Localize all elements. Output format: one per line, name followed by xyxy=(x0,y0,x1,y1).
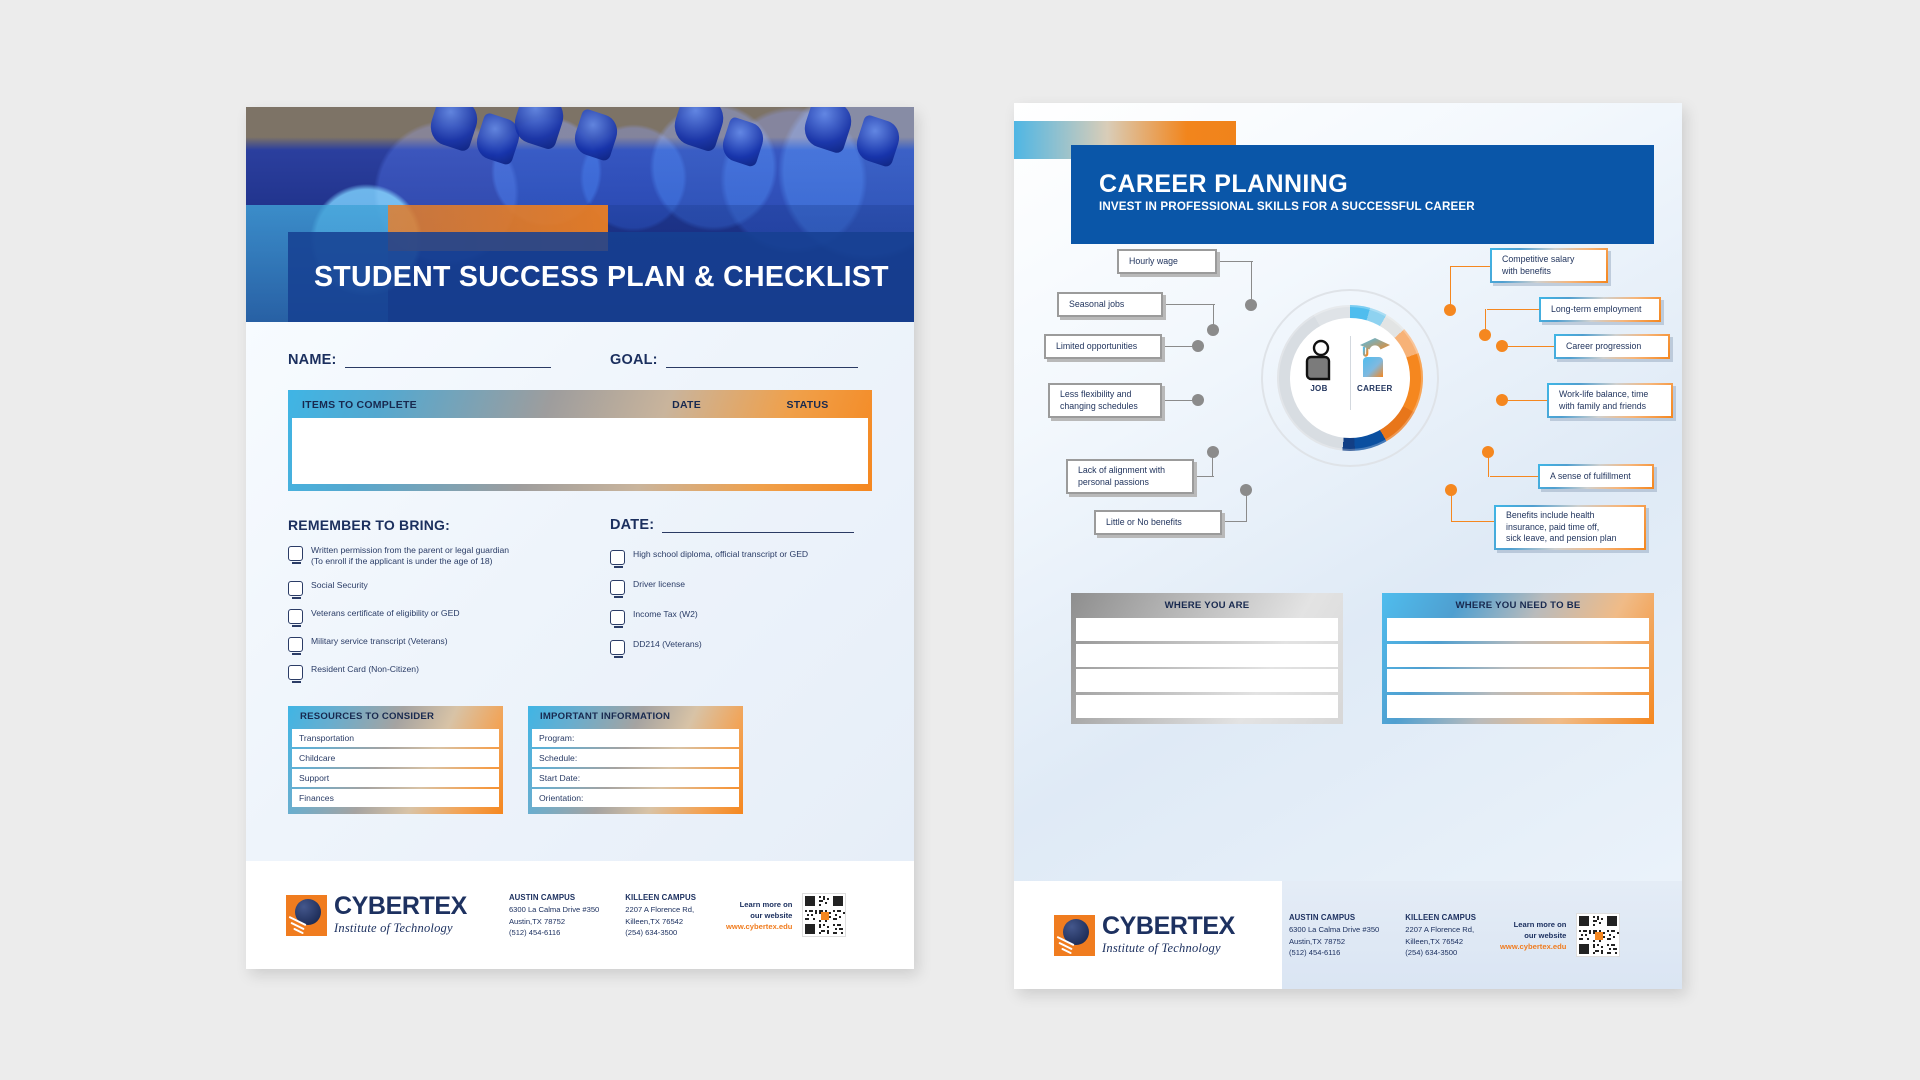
list-item[interactable]: Income Tax (W2) xyxy=(610,609,870,625)
learn-line-2: our website xyxy=(726,910,792,921)
date-cell[interactable] xyxy=(626,462,747,484)
items-col-header: ITEMS TO COMPLETE xyxy=(292,393,626,418)
name-goal-row: NAME: GOAL: xyxy=(288,322,872,368)
right-page-footer: CYBERTEX Institute of Technology AUSTIN … xyxy=(1014,881,1682,989)
learn-line-2: our website xyxy=(1500,930,1566,941)
row-value[interactable] xyxy=(371,749,499,767)
checkbox[interactable] xyxy=(288,581,303,596)
killeen-address-2: Killeen,TX 76542 xyxy=(1405,936,1476,947)
connector-dot xyxy=(1192,340,1204,352)
list-item[interactable]: Written permission from the parent or le… xyxy=(288,545,570,568)
resources-title: RESOURCES TO CONSIDER xyxy=(292,706,499,727)
remember-to-bring-section: REMEMBER TO BRING: Written permission fr… xyxy=(288,517,872,692)
killeen-campus-title: KILLEEN CAMPUS xyxy=(1405,912,1476,924)
student-success-plan-page: STUDENT SUCCESS PLAN & CHECKLIST NAME: G… xyxy=(246,107,914,969)
row-label: Finances xyxy=(292,789,371,807)
resources-card: RESOURCES TO CONSIDER Transportation Chi… xyxy=(288,706,503,814)
list-item[interactable]: Veterans certificate of eligibility or G… xyxy=(288,608,570,624)
list-item-label: DD214 (Veterans) xyxy=(633,639,702,650)
row-value[interactable] xyxy=(611,749,739,767)
node-label: Long-term employment xyxy=(1551,304,1641,315)
remember-right-column: DATE: High school diploma, official tran… xyxy=(610,517,870,692)
where-you-are-shell: WHERE YOU ARE xyxy=(1071,593,1343,724)
checkbox[interactable] xyxy=(610,550,625,565)
learn-more-text: Learn more on our website www.cybertex.e… xyxy=(1500,919,1566,952)
job-node-lack-of-alignment[interactable]: Lack of alignment with personal passions xyxy=(1066,459,1194,494)
remember-left-column: REMEMBER TO BRING: Written permission fr… xyxy=(288,517,570,692)
row-value[interactable] xyxy=(611,729,739,747)
node-label: Career progression xyxy=(1566,341,1641,352)
job-label: JOB xyxy=(1310,384,1327,393)
killeen-address-1: 2207 A Florence Rd, xyxy=(1405,924,1476,935)
row-label: Support xyxy=(292,769,371,787)
checkbox[interactable] xyxy=(610,610,625,625)
qr-code-icon xyxy=(1577,914,1619,956)
node-label: Benefits include health insurance, paid … xyxy=(1506,510,1617,544)
qr-code-icon xyxy=(803,894,845,936)
connector-dot xyxy=(1207,324,1219,336)
items-cell[interactable] xyxy=(292,418,626,440)
killeen-address-1: 2207 A Florence Rd, xyxy=(625,904,696,915)
where-you-need-title: WHERE YOU NEED TO BE xyxy=(1387,593,1649,618)
austin-phone: (512) 454-6116 xyxy=(509,927,599,938)
goal-field-group: GOAL: xyxy=(610,352,870,368)
resources-shell: RESOURCES TO CONSIDER Transportation Chi… xyxy=(288,706,503,814)
left-page-body: NAME: GOAL: ITEMS TO COMPLETE DATE STATU xyxy=(246,322,914,861)
table-row xyxy=(292,440,868,462)
connector-dot xyxy=(1207,446,1219,458)
node-label: Work-life balance, time with family and … xyxy=(1559,389,1648,412)
brand-tagline: Institute of Technology xyxy=(1102,941,1235,956)
checkbox[interactable] xyxy=(288,546,303,561)
qr-code[interactable] xyxy=(1576,913,1620,957)
remember-right-list: High school diploma, official transcript… xyxy=(610,549,870,655)
important-info-title: IMPORTANT INFORMATION xyxy=(532,706,739,727)
status-col-header: STATUS xyxy=(747,393,868,418)
items-cell[interactable] xyxy=(292,462,626,484)
list-item-label: Military service transcript (Veterans) xyxy=(311,636,448,647)
canvas: STUDENT SUCCESS PLAN & CHECKLIST NAME: G… xyxy=(0,0,1920,1080)
node-label: Competitive salary with benefits xyxy=(1502,254,1574,277)
career-planning-body: CAREER PLANNING INVEST IN PROFESSIONAL S… xyxy=(1014,103,1682,881)
logo-wordmark: CYBERTEX Institute of Technology xyxy=(1102,914,1235,956)
date-field-group: DATE: xyxy=(610,517,870,533)
career-planning-header: CAREER PLANNING INVEST IN PROFESSIONAL S… xyxy=(1071,145,1654,244)
job-icon-group: JOB xyxy=(1304,339,1334,393)
table-row: Schedule: xyxy=(532,749,739,767)
items-table-header-row: ITEMS TO COMPLETE DATE STATUS xyxy=(292,393,868,418)
website-url[interactable]: www.cybertex.edu xyxy=(1500,941,1566,952)
hero-banner: STUDENT SUCCESS PLAN & CHECKLIST xyxy=(246,107,914,322)
job-node-less-flexibility[interactable]: Less flexibility and changing schedules xyxy=(1048,383,1162,418)
list-item[interactable]: Social Security xyxy=(288,580,570,596)
connector-dot xyxy=(1482,446,1494,458)
career-node-sense-of-fulfillment[interactable]: A sense of fulfillment xyxy=(1538,464,1654,489)
killeen-phone: (254) 634-3500 xyxy=(625,927,696,938)
where-you-need-rows xyxy=(1387,618,1649,718)
where-you-are-need-section: WHERE YOU ARE WHERE YOU NEED TO BE xyxy=(1071,593,1654,724)
cybertex-logo-icon xyxy=(1054,915,1095,956)
row-value[interactable] xyxy=(371,769,499,787)
brand-name: CYBERTEX xyxy=(334,894,467,919)
date-cell[interactable] xyxy=(626,418,747,440)
row-label: Transportation xyxy=(292,729,371,747)
status-cell[interactable] xyxy=(747,462,868,484)
graduate-person-icon xyxy=(1358,336,1392,381)
date-input[interactable] xyxy=(662,518,854,533)
hero-title-band: STUDENT SUCCESS PLAN & CHECKLIST xyxy=(288,232,914,322)
career-label: CAREER xyxy=(1357,384,1393,393)
important-info-shell: IMPORTANT INFORMATION Program: Schedule: xyxy=(528,706,743,814)
node-label: Hourly wage xyxy=(1129,256,1178,267)
job-node-hourly-wage[interactable]: Hourly wage xyxy=(1117,249,1217,274)
austin-campus-title: AUSTIN CAMPUS xyxy=(1289,912,1379,924)
name-field-group: NAME: xyxy=(288,352,570,368)
connector-dot xyxy=(1240,484,1252,496)
where-you-are-row[interactable] xyxy=(1076,695,1338,718)
row-value[interactable] xyxy=(371,729,499,747)
connector-dot xyxy=(1192,394,1204,406)
where-you-need-card: WHERE YOU NEED TO BE xyxy=(1382,593,1654,724)
name-input[interactable] xyxy=(345,353,551,368)
connector-dot xyxy=(1444,304,1456,316)
connector-dot xyxy=(1245,299,1257,311)
date-label: DATE: xyxy=(610,517,654,533)
career-node-benefits-detail[interactable]: Benefits include health insurance, paid … xyxy=(1494,505,1646,550)
career-node-career-progression[interactable]: Career progression xyxy=(1554,334,1670,359)
career-planning-title: CAREER PLANNING xyxy=(1099,171,1654,197)
where-you-are-card: WHERE YOU ARE xyxy=(1071,593,1343,724)
name-label: NAME: xyxy=(288,352,337,368)
items-cell[interactable] xyxy=(292,440,626,462)
list-item[interactable]: Resident Card (Non-Citizen) xyxy=(288,664,570,680)
table-row: Start Date: xyxy=(532,769,739,787)
list-item-label: Veterans certificate of eligibility or G… xyxy=(311,608,460,619)
row-value[interactable] xyxy=(611,789,739,807)
list-item[interactable]: Driver license xyxy=(610,579,870,595)
table-row xyxy=(292,462,868,484)
killeen-campus-info: KILLEEN CAMPUS 2207 A Florence Rd, Kille… xyxy=(625,892,696,939)
logo-wordmark: CYBERTEX Institute of Technology xyxy=(334,894,467,936)
austin-phone: (512) 454-6116 xyxy=(1289,947,1379,958)
cybertex-logo: CYBERTEX Institute of Technology xyxy=(1054,914,1235,956)
table-row: Program: xyxy=(532,729,739,747)
row-label: Orientation: xyxy=(532,789,611,807)
connector-dot xyxy=(1479,329,1491,341)
austin-campus-info: AUSTIN CAMPUS 6300 La Calma Drive #350 A… xyxy=(509,892,599,939)
checkbox[interactable] xyxy=(610,640,625,655)
list-item[interactable]: Military service transcript (Veterans) xyxy=(288,636,570,652)
learn-line-1: Learn more on xyxy=(726,899,792,910)
list-item-label: High school diploma, official transcript… xyxy=(633,549,808,560)
node-label: Less flexibility and changing schedules xyxy=(1060,389,1138,412)
where-you-are-row[interactable] xyxy=(1076,669,1338,692)
killeen-campus-title: KILLEEN CAMPUS xyxy=(625,892,696,904)
killeen-campus-info: KILLEEN CAMPUS 2207 A Florence Rd, Kille… xyxy=(1405,912,1476,959)
austin-address-1: 6300 La Calma Drive #350 xyxy=(1289,924,1379,935)
where-you-need-shell: WHERE YOU NEED TO BE xyxy=(1382,593,1654,724)
node-label: A sense of fulfillment xyxy=(1550,471,1631,482)
where-you-need-row[interactable] xyxy=(1387,695,1649,718)
learn-line-1: Learn more on xyxy=(1500,919,1566,930)
date-col-header: DATE xyxy=(626,393,747,418)
list-item[interactable]: High school diploma, official transcript… xyxy=(610,549,870,565)
brand-name: CYBERTEX xyxy=(1102,914,1235,939)
austin-address-2: Austin,TX 78752 xyxy=(1289,936,1379,947)
table-row: Support xyxy=(292,769,499,787)
items-to-complete-section: ITEMS TO COMPLETE DATE STATUS xyxy=(288,390,872,491)
row-label: Childcare xyxy=(292,749,371,767)
job-node-seasonal-jobs[interactable]: Seasonal jobs xyxy=(1057,292,1163,317)
node-label: Limited opportunities xyxy=(1056,341,1137,352)
killeen-address-2: Killeen,TX 76542 xyxy=(625,916,696,927)
job-vs-career-diagram: JOB xyxy=(1014,244,1682,582)
list-item-label: Driver license xyxy=(633,579,685,590)
status-cell[interactable] xyxy=(747,418,868,440)
qr-code[interactable] xyxy=(802,893,846,937)
worker-person-icon xyxy=(1304,339,1334,381)
where-you-need-row[interactable] xyxy=(1387,644,1649,667)
ring-divider xyxy=(1350,336,1351,410)
table-row: Finances xyxy=(292,789,499,807)
job-node-little-no-benefits[interactable]: Little or No benefits xyxy=(1094,510,1222,535)
remember-left-list: Written permission from the parent or le… xyxy=(288,545,570,680)
important-info-card: IMPORTANT INFORMATION Program: Schedule: xyxy=(528,706,743,814)
connector-dot xyxy=(1496,394,1508,406)
where-you-are-rows xyxy=(1076,618,1338,718)
page-title: STUDENT SUCCESS PLAN & CHECKLIST xyxy=(288,261,889,294)
checkbox[interactable] xyxy=(610,580,625,595)
list-item-label: Resident Card (Non-Citizen) xyxy=(311,664,419,675)
checkbox[interactable] xyxy=(288,609,303,624)
row-label: Program: xyxy=(532,729,611,747)
list-item-label: Income Tax (W2) xyxy=(633,609,698,620)
goal-input[interactable] xyxy=(666,353,858,368)
goal-label: GOAL: xyxy=(610,352,658,368)
table-row: Transportation xyxy=(292,729,499,747)
row-value[interactable] xyxy=(611,769,739,787)
node-label: Seasonal jobs xyxy=(1069,299,1124,310)
cybertex-logo-icon xyxy=(286,895,327,936)
austin-campus-title: AUSTIN CAMPUS xyxy=(509,892,599,904)
cybertex-logo: CYBERTEX Institute of Technology xyxy=(286,894,467,936)
items-table: ITEMS TO COMPLETE DATE STATUS xyxy=(288,390,872,491)
date-cell[interactable] xyxy=(626,440,747,462)
bottom-tables-row: RESOURCES TO CONSIDER Transportation Chi… xyxy=(288,706,872,814)
resources-table: Transportation Childcare Support xyxy=(292,727,499,809)
connector-dot xyxy=(1496,340,1508,352)
career-planning-page: CAREER PLANNING INVEST IN PROFESSIONAL S… xyxy=(1014,103,1682,989)
where-you-are-row[interactable] xyxy=(1076,618,1338,641)
job-node-limited-opportunities[interactable]: Limited opportunities xyxy=(1044,334,1162,359)
where-you-need-row[interactable] xyxy=(1387,618,1649,641)
table-row: Orientation: xyxy=(532,789,739,807)
austin-campus-info: AUSTIN CAMPUS 6300 La Calma Drive #350 A… xyxy=(1289,912,1379,959)
where-you-need-row[interactable] xyxy=(1387,669,1649,692)
list-item-label: Social Security xyxy=(311,580,368,591)
important-info-table: Program: Schedule: Start Date: xyxy=(532,727,739,809)
list-item[interactable]: DD214 (Veterans) xyxy=(610,639,870,655)
career-node-long-term-employment[interactable]: Long-term employment xyxy=(1539,297,1661,322)
website-url[interactable]: www.cybertex.edu xyxy=(726,921,792,932)
austin-address-1: 6300 La Calma Drive #350 xyxy=(509,904,599,915)
node-label: Lack of alignment with personal passions xyxy=(1078,465,1165,488)
where-you-are-title: WHERE YOU ARE xyxy=(1076,593,1338,618)
status-cell[interactable] xyxy=(747,440,868,462)
node-label: Little or No benefits xyxy=(1106,517,1182,528)
career-node-competitive-salary[interactable]: Competitive salary with benefits xyxy=(1490,248,1608,283)
row-value[interactable] xyxy=(371,789,499,807)
row-label: Start Date: xyxy=(532,769,611,787)
row-label: Schedule: xyxy=(532,749,611,767)
checkbox[interactable] xyxy=(288,665,303,680)
career-icon-group: CAREER xyxy=(1357,336,1393,393)
connector-dot xyxy=(1445,484,1457,496)
checkbox[interactable] xyxy=(288,637,303,652)
career-node-work-life-balance[interactable]: Work-life balance, time with family and … xyxy=(1547,383,1673,418)
career-planning-subtitle: INVEST IN PROFESSIONAL SKILLS FOR A SUCC… xyxy=(1099,200,1654,213)
learn-more-text: Learn more on our website www.cybertex.e… xyxy=(726,899,792,932)
killeen-phone: (254) 634-3500 xyxy=(1405,947,1476,958)
austin-address-2: Austin,TX 78752 xyxy=(509,916,599,927)
table-row xyxy=(292,418,868,440)
remember-title: REMEMBER TO BRING: xyxy=(288,517,570,533)
table-row: Childcare xyxy=(292,749,499,767)
list-item-label: Written permission from the parent or le… xyxy=(311,545,509,568)
left-page-footer: CYBERTEX Institute of Technology AUSTIN … xyxy=(246,861,914,969)
brand-tagline: Institute of Technology xyxy=(334,921,467,936)
where-you-are-row[interactable] xyxy=(1076,644,1338,667)
